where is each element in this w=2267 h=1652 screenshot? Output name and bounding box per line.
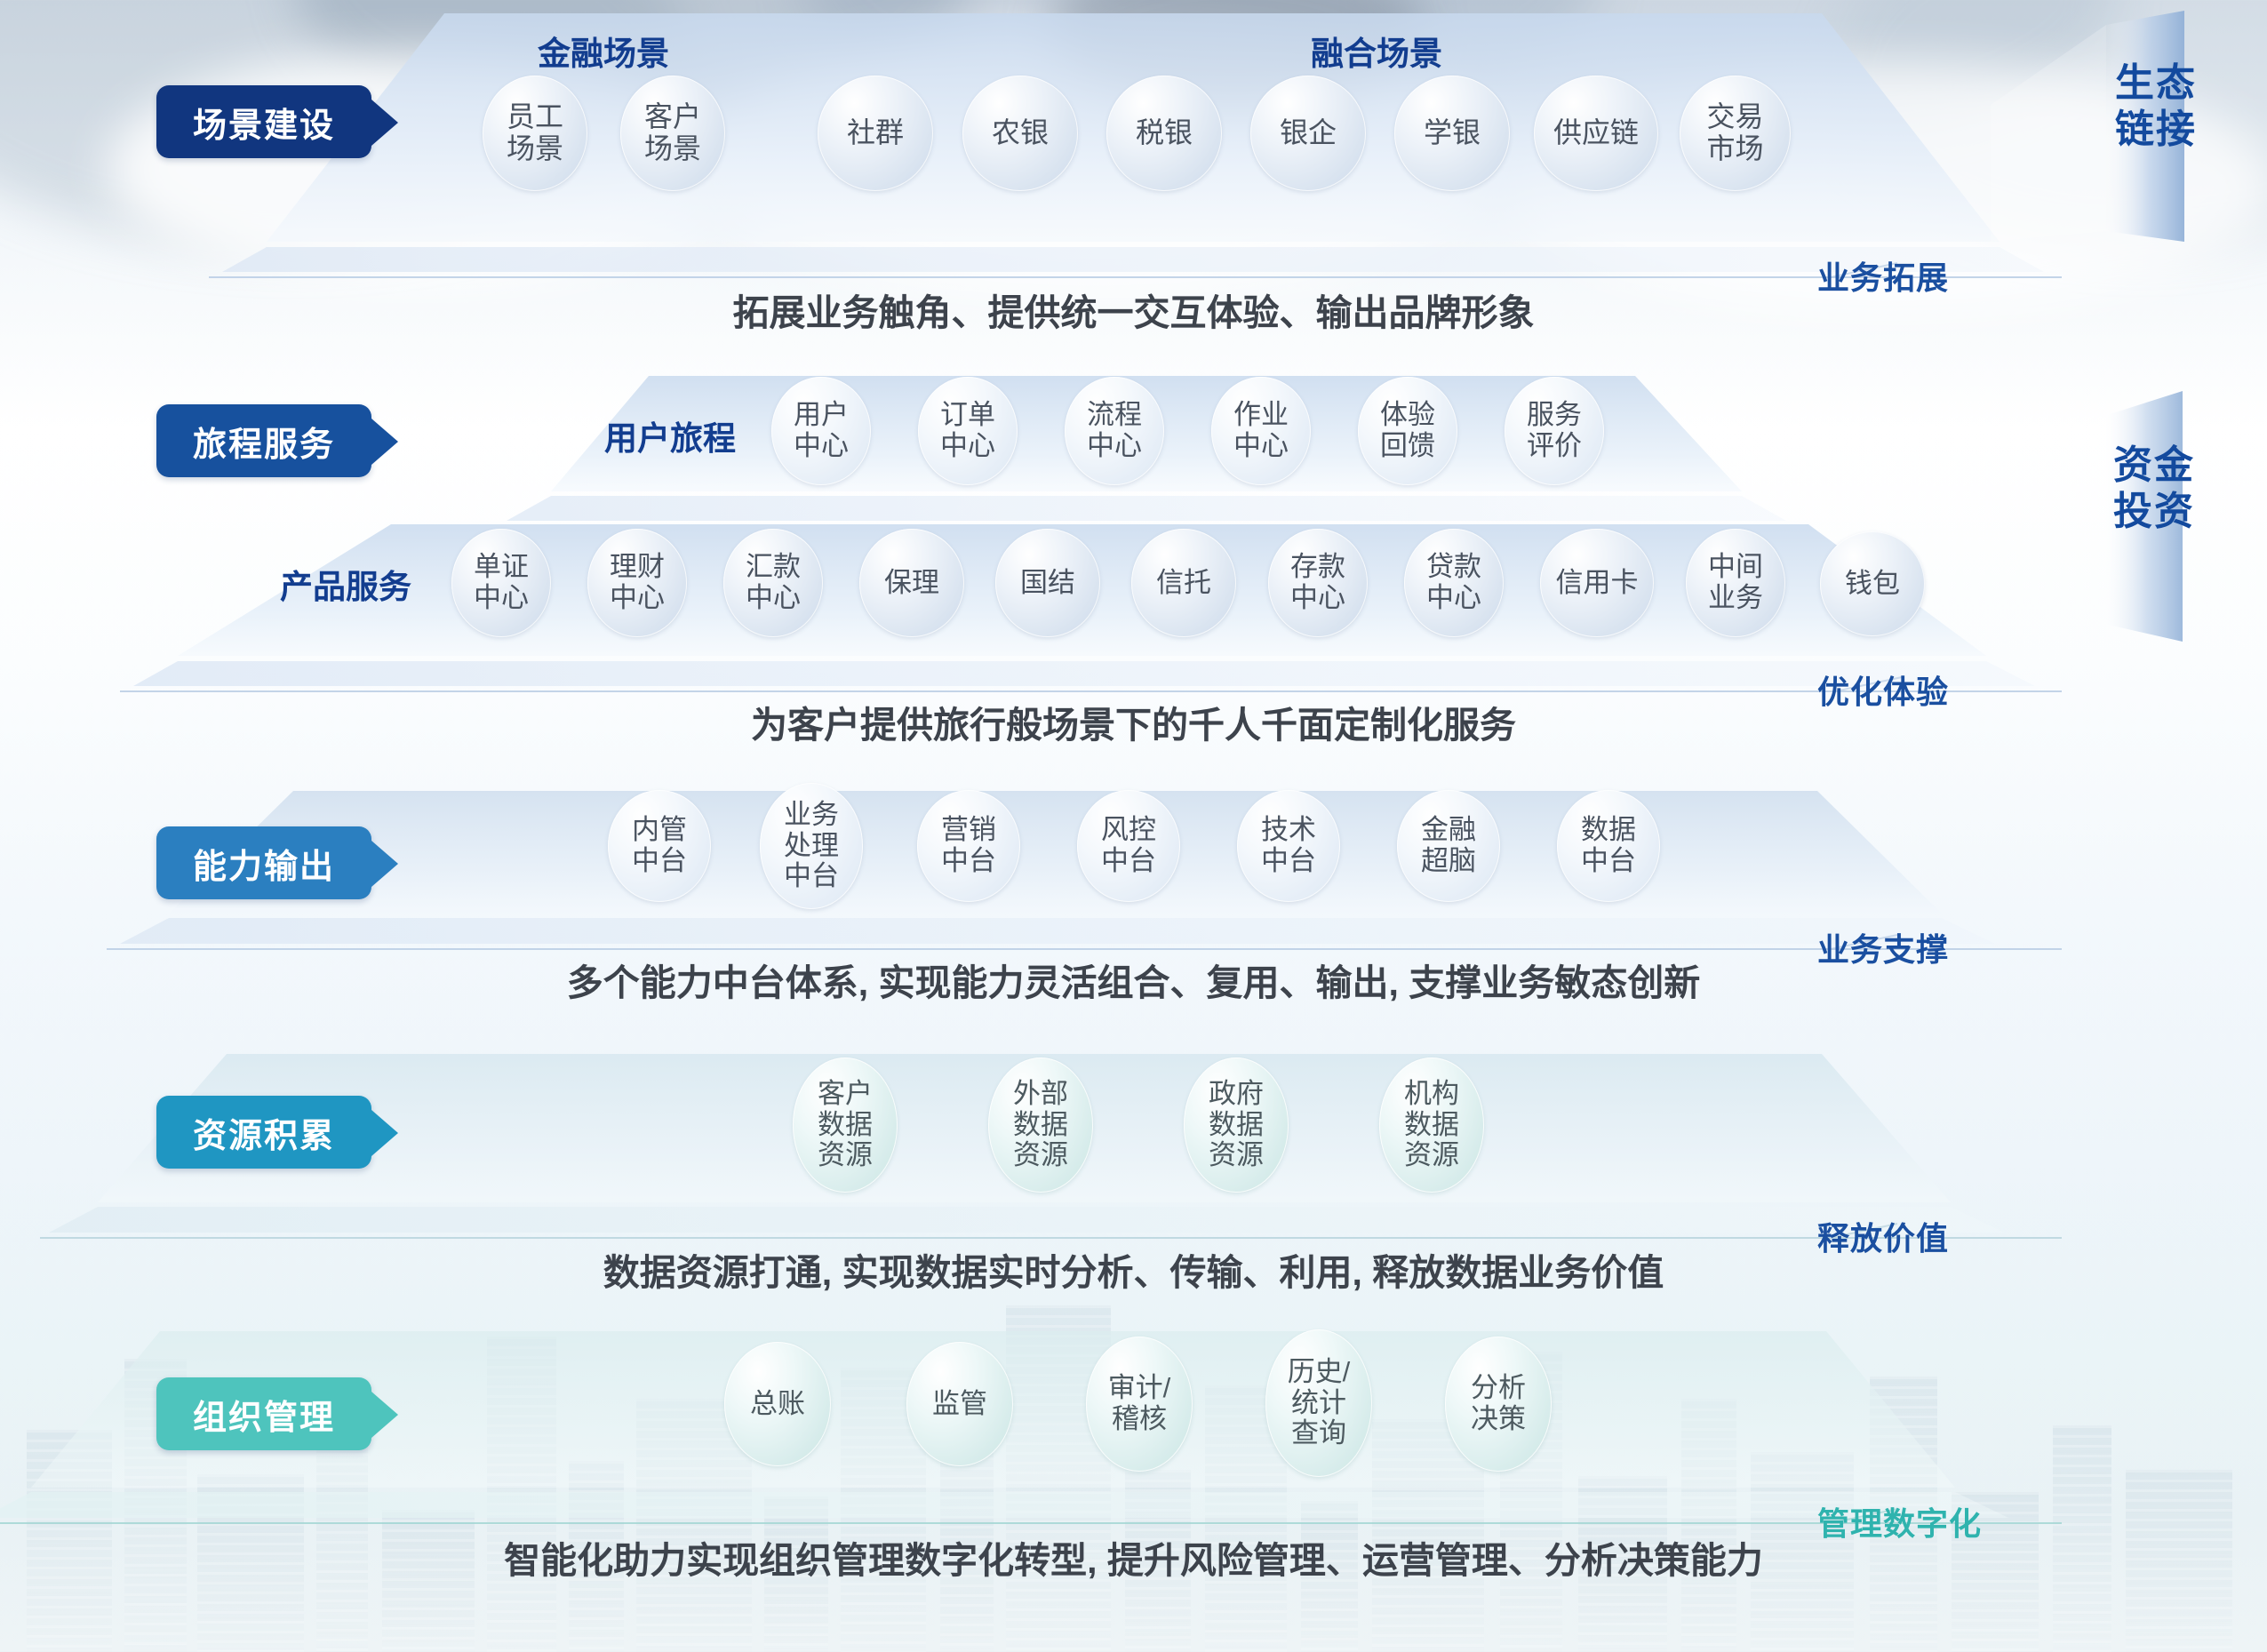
node-line: 信用卡 [1556,568,1639,599]
node-line: 社群 [847,117,904,149]
node-line: 数据 [1404,1110,1459,1141]
caption-tier1: 拓展业务触角、提供统一交互体验、输出品牌形象 [0,283,2267,336]
node-line: 国结 [1020,568,1075,599]
node-line: 交易 [1706,101,1763,133]
node-line: 场景 [507,133,563,165]
node-trading-market[interactable]: 交易 市场 [1680,76,1791,191]
node-history-statistics-query[interactable]: 历史/ 统计 查询 [1265,1329,1372,1477]
node-line: 中台 [1101,846,1156,877]
node-line: 风控 [1101,815,1156,846]
node-agriculture-bank[interactable]: 农银 [962,76,1078,191]
node-line: 理财 [610,552,665,583]
node-line: 外部 [1013,1079,1068,1110]
node-line: 营销 [941,815,996,846]
node-tax-bank[interactable]: 税银 [1106,76,1222,191]
node-technology-midend[interactable]: 技术 中台 [1237,790,1340,902]
node-line: 中心 [1290,583,1345,614]
node-line: 体验 [1380,400,1435,431]
node-service-evaluation[interactable]: 服务 评价 [1505,377,1604,485]
node-line: 决策 [1471,1404,1526,1435]
node-line: 查询 [1291,1418,1346,1449]
caption-tier2: 为客户提供旅行般场景下的千人千面定制化服务 [0,695,2267,748]
node-line: 中心 [940,431,995,462]
node-experience-feedback[interactable]: 体验 回馈 [1358,377,1457,485]
node-line: 稽核 [1112,1404,1167,1435]
node-line: 分析 [1471,1373,1526,1404]
group-title-integration-scene: 融合场景 [1311,27,1442,75]
tier-tag-pointer-icon [371,841,398,887]
node-line: 学银 [1424,117,1481,149]
node-line: 场景 [644,133,701,165]
node-credit-card[interactable]: 信用卡 [1540,529,1654,637]
node-line: 税银 [1136,117,1193,149]
node-line: 中心 [610,583,665,614]
node-marketing-midend[interactable]: 营销 中台 [917,790,1020,902]
group-title-user-journey: 用户旅程 [604,411,736,459]
node-line: 技术 [1261,815,1316,846]
node-line: 市场 [1706,133,1763,165]
node-process-center[interactable]: 流程 中心 [1065,377,1164,485]
node-operation-center[interactable]: 作业 中心 [1211,377,1311,485]
node-line: 作业 [1233,400,1289,431]
node-line: 资源 [1013,1140,1068,1171]
node-line: 保理 [884,568,939,599]
node-line: 中台 [1581,846,1636,877]
plaque-line: 投资 [2113,489,2195,535]
node-line: 农银 [992,117,1049,149]
node-wallet[interactable]: 钱包 [1820,531,1925,636]
node-line: 汇款 [746,552,801,583]
node-line: 客户 [644,101,701,133]
tier-tag-journey-service[interactable]: 旅程服务 [156,404,371,477]
node-line: 中心 [746,583,801,614]
node-line: 回馈 [1380,431,1435,462]
node-line: 机构 [1404,1079,1459,1110]
caption-tier5: 智能化助力实现组织管理数字化转型, 提升风险管理、运营管理、分析决策能力 [0,1530,2267,1584]
node-line: 数据 [1581,815,1636,846]
node-line: 中心 [1233,431,1289,462]
node-line: 数据 [1209,1110,1264,1141]
node-line: 中间 [1708,552,1763,583]
node-user-center[interactable]: 用户 中心 [771,377,871,485]
node-intermediary-business[interactable]: 中间 业务 [1686,529,1785,637]
node-line: 存款 [1290,552,1345,583]
node-line: 供应链 [1553,117,1639,149]
node-line: 政府 [1209,1079,1264,1110]
node-internal-mgmt-midend[interactable]: 内管 中台 [608,790,711,902]
caption-tier3: 多个能力中台体系, 实现能力灵活组合、复用、输出, 支撑业务敏态创新 [0,953,2267,1006]
node-deposit-center[interactable]: 存款 中心 [1268,529,1368,637]
node-order-center[interactable]: 订单 中心 [918,377,1018,485]
node-business-processing-midend[interactable]: 业务 处理 中台 [760,783,863,909]
node-line: 银企 [1280,117,1337,149]
node-line: 订单 [940,400,995,431]
tier-capability-output: 能力输出 内管 中台 业务 处理 中台 营销 中台 风控 中台 技术 中台 金融… [0,782,2267,1013]
tier-tag-scene-construction[interactable]: 场景建设 [156,85,371,158]
side-plaque-ecosystem-link: 生态 链接 [1991,9,2267,284]
node-line: 中心 [1087,431,1142,462]
node-line: 贷款 [1426,552,1481,583]
node-line: 中心 [1426,583,1481,614]
node-line: 员工 [507,101,563,133]
tier-tag-organization-management[interactable]: 组织管理 [156,1377,371,1450]
node-line: 历史/ [1288,1357,1351,1388]
node-line: 中台 [941,846,996,877]
node-factoring[interactable]: 保理 [859,529,964,637]
node-line: 数据 [1013,1110,1068,1141]
node-line: 资源 [1404,1140,1459,1171]
node-line: 业务 [1708,583,1763,614]
node-international-settlement[interactable]: 国结 [995,529,1100,637]
node-line: 资源 [1209,1140,1264,1171]
node-line: 总账 [750,1389,805,1420]
plaque-line: 生态 [2115,60,2197,107]
plaque-line: 链接 [2115,107,2197,153]
side-plaque-capital-investment: 资金 投资 [1991,382,2267,693]
tier-tag-pointer-icon [371,1392,398,1438]
node-customer-data-resource[interactable]: 客户 数据 资源 [793,1057,898,1193]
plaque-line: 资金 [2113,443,2195,489]
node-line: 中心 [474,583,529,614]
node-loan-center[interactable]: 贷款 中心 [1404,529,1504,637]
node-data-midend[interactable]: 数据 中台 [1557,790,1660,902]
tier-tag-label: 资源积累 [193,1108,335,1157]
tier-tag-label: 场景建设 [193,98,335,147]
node-line: 处理 [784,831,839,862]
node-line: 业务 [784,800,839,831]
capital-plaque-shape [1991,382,2267,693]
node-trust[interactable]: 信托 [1131,529,1236,637]
node-line: 内管 [632,815,687,846]
tier-tag-pointer-icon [371,419,398,465]
tier-tag-pointer-icon [371,100,398,146]
caption-tier4: 数据资源打通, 实现数据实时分析、传输、利用, 释放数据业务价值 [0,1242,2267,1296]
node-line: 监管 [932,1389,987,1420]
node-document-center[interactable]: 单证 中心 [451,529,551,637]
tier-tag-resource-accumulation[interactable]: 资源积累 [156,1096,371,1169]
node-line: 审计/ [1108,1373,1171,1404]
tier-tag-pointer-icon [371,1110,398,1156]
node-supervision[interactable]: 监管 [906,1342,1013,1466]
node-line: 统计 [1291,1388,1346,1419]
node-education-bank[interactable]: 学银 [1394,76,1510,191]
node-general-ledger[interactable]: 总账 [724,1342,831,1466]
node-supply-chain[interactable]: 供应链 [1534,76,1658,191]
node-line: 钱包 [1845,569,1900,600]
node-government-data-resource[interactable]: 政府 数据 资源 [1184,1057,1289,1193]
tier-tag-capability-output[interactable]: 能力输出 [156,826,371,899]
node-line: 服务 [1527,400,1582,431]
node-customer-scene[interactable]: 客户 场景 [620,76,725,191]
tier-journey-service: 旅程服务 用户旅程 产品服务 用户 中心 订单 中心 流程 中心 作业 中心 体… [0,371,2267,745]
node-risk-control-midend[interactable]: 风控 中台 [1077,790,1180,902]
tier-tag-label: 能力输出 [193,839,335,888]
node-financial-superbrain[interactable]: 金融 超脑 [1397,790,1500,902]
node-bank-enterprise[interactable]: 银企 [1250,76,1366,191]
node-line: 单证 [474,552,529,583]
node-wealth-center[interactable]: 理财 中心 [587,529,687,637]
node-line: 用户 [794,400,849,431]
node-line: 数据 [818,1110,873,1141]
node-employee-scene[interactable]: 员工 场景 [483,76,587,191]
node-line: 金融 [1421,815,1476,846]
tier-tag-label: 旅程服务 [193,417,335,466]
node-line: 中心 [794,431,849,462]
tier-organization-management: 组织管理 总账 监管 审计/ 稽核 历史/ 统计 查询 分析 决策 管理数字化 … [0,1324,2267,1652]
tier-resource-accumulation: 资源积累 客户 数据 资源 外部 数据 资源 政府 数据 资源 机构 数据 资源… [0,1047,2267,1287]
node-remittance-center[interactable]: 汇款 中心 [723,529,823,637]
node-institution-data-resource[interactable]: 机构 数据 资源 [1379,1057,1484,1193]
node-audit-inspection[interactable]: 审计/ 稽核 [1086,1337,1193,1472]
tier-tag-label: 组织管理 [193,1390,335,1439]
group-title-product-service: 产品服务 [280,560,411,608]
tier-scene-construction: 场景建设 金融场景 融合场景 员工 场景 客户 场景 社群 农银 税银 银企 学… [0,0,2267,351]
node-line: 客户 [818,1079,873,1110]
node-line: 流程 [1087,400,1142,431]
node-line: 信托 [1156,568,1211,599]
node-line: 中台 [632,846,687,877]
node-line: 中台 [784,861,839,892]
node-line: 评价 [1527,431,1582,462]
node-external-data-resource[interactable]: 外部 数据 资源 [988,1057,1093,1193]
node-line: 超脑 [1421,846,1476,877]
node-community[interactable]: 社群 [818,76,933,191]
node-line: 中台 [1261,846,1316,877]
group-title-financial-scene: 金融场景 [538,27,669,75]
node-analysis-decision[interactable]: 分析 决策 [1445,1337,1552,1472]
node-line: 资源 [818,1140,873,1171]
